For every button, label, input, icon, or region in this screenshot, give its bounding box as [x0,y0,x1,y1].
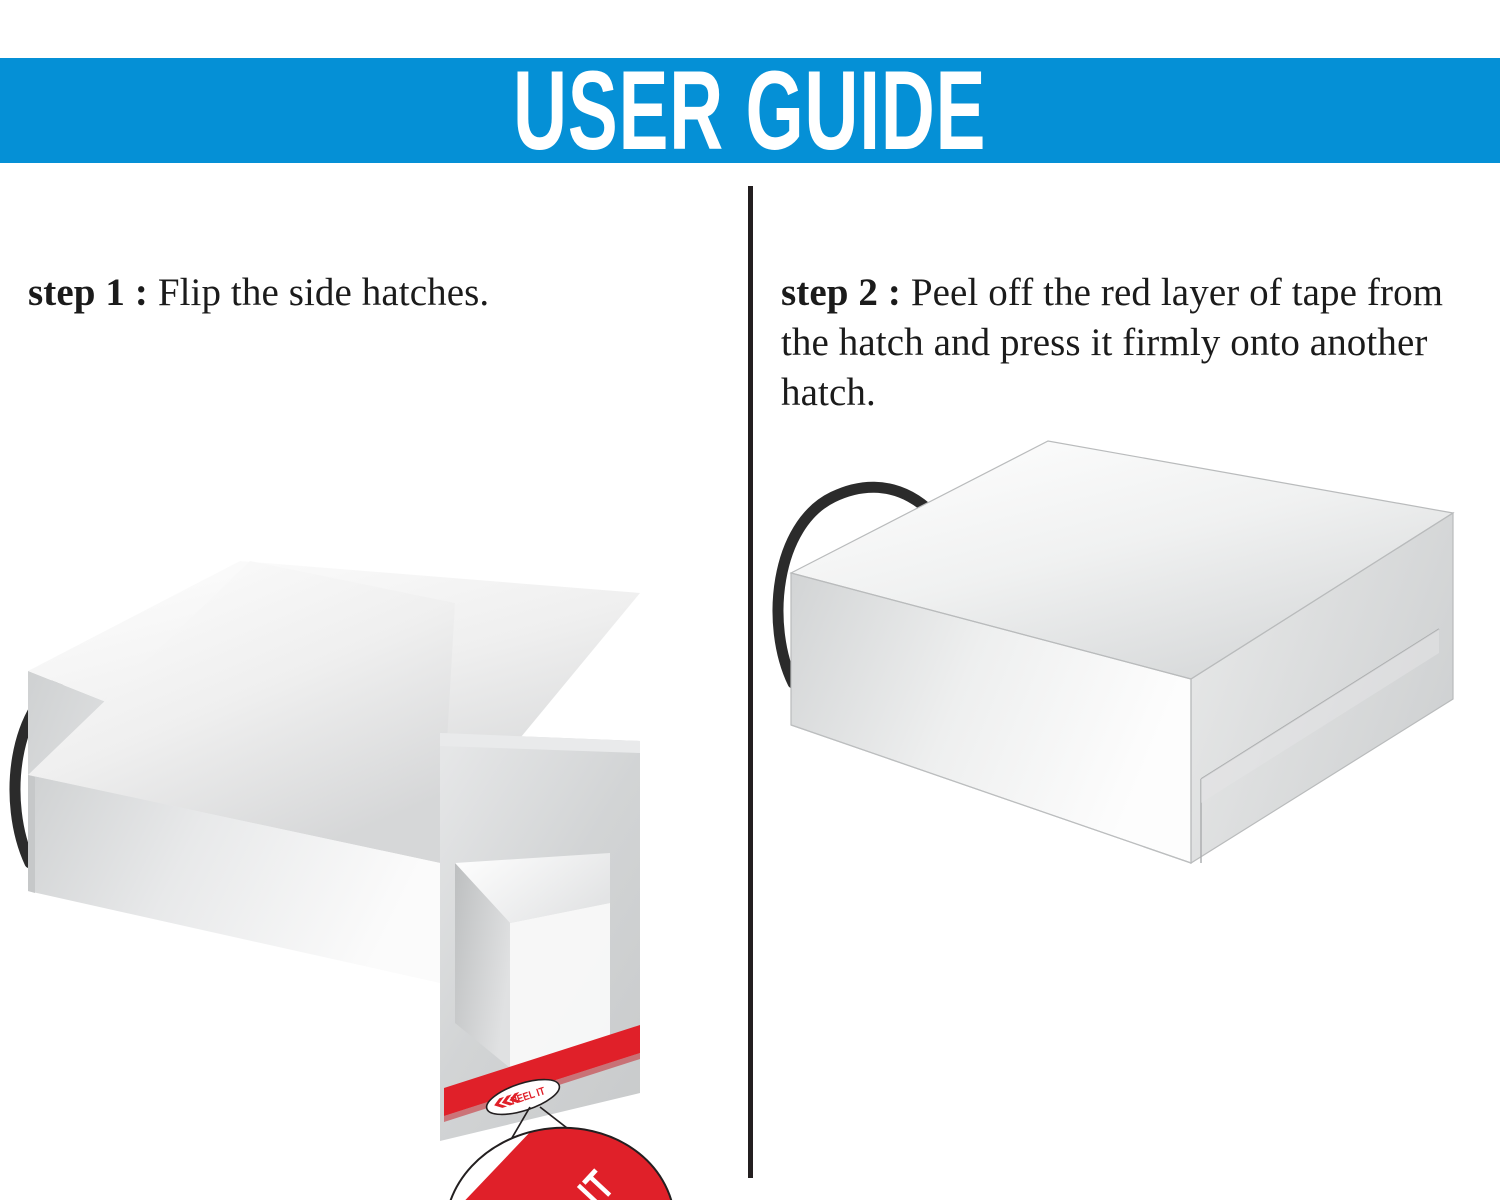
box-top-face [791,441,1453,679]
step-2-heading: step 2 : Peel off the red layer of tape … [781,268,1496,418]
box-body [28,561,470,671]
step-1-text: Flip the side hatches. [158,271,489,314]
callout-red-band [343,1031,748,1200]
box-top-face [28,561,640,835]
red-tape-strip [444,1025,640,1122]
step-2-panel: step 2 : Peel off the red layer of tape … [753,163,1500,1200]
step-2-label: step 2 : [781,271,911,314]
box-left-face [28,671,295,927]
tape-peel-it-badge: PEEL IT [483,1072,564,1121]
flipped-hatch [440,733,640,1141]
sealed-hatch-flap [1201,629,1439,803]
box-front-face [791,573,1191,863]
box-front-body [28,671,440,953]
box-main [791,441,1453,863]
box-bottom-seam [791,725,1191,863]
rope-handles-icon [778,487,1115,693]
header-band: USER GUIDE [0,58,1500,163]
sealed-hatch-seam [1201,629,1439,863]
page-title: USER GUIDE [513,54,986,166]
box-front-face [28,671,440,953]
step-1-label: step 1 : [28,271,158,314]
tape-peel-it-text: PEEL IT [510,1085,548,1107]
callout-peel-it-text: PEEL IT [506,1161,623,1200]
step-1-panel: step 1 : Flip the side hatches. [0,163,748,1200]
callout-leader-lines [474,1107,612,1200]
box-main [28,561,455,983]
peel-it-callout: PEEL IT [343,1031,748,1200]
step-1-heading: step 1 : Flip the side hatches. [28,268,718,318]
box-right-face [1191,513,1453,863]
step-1-illustration: PEEL IT [0,163,748,1200]
rope-handles-icon [15,665,352,873]
